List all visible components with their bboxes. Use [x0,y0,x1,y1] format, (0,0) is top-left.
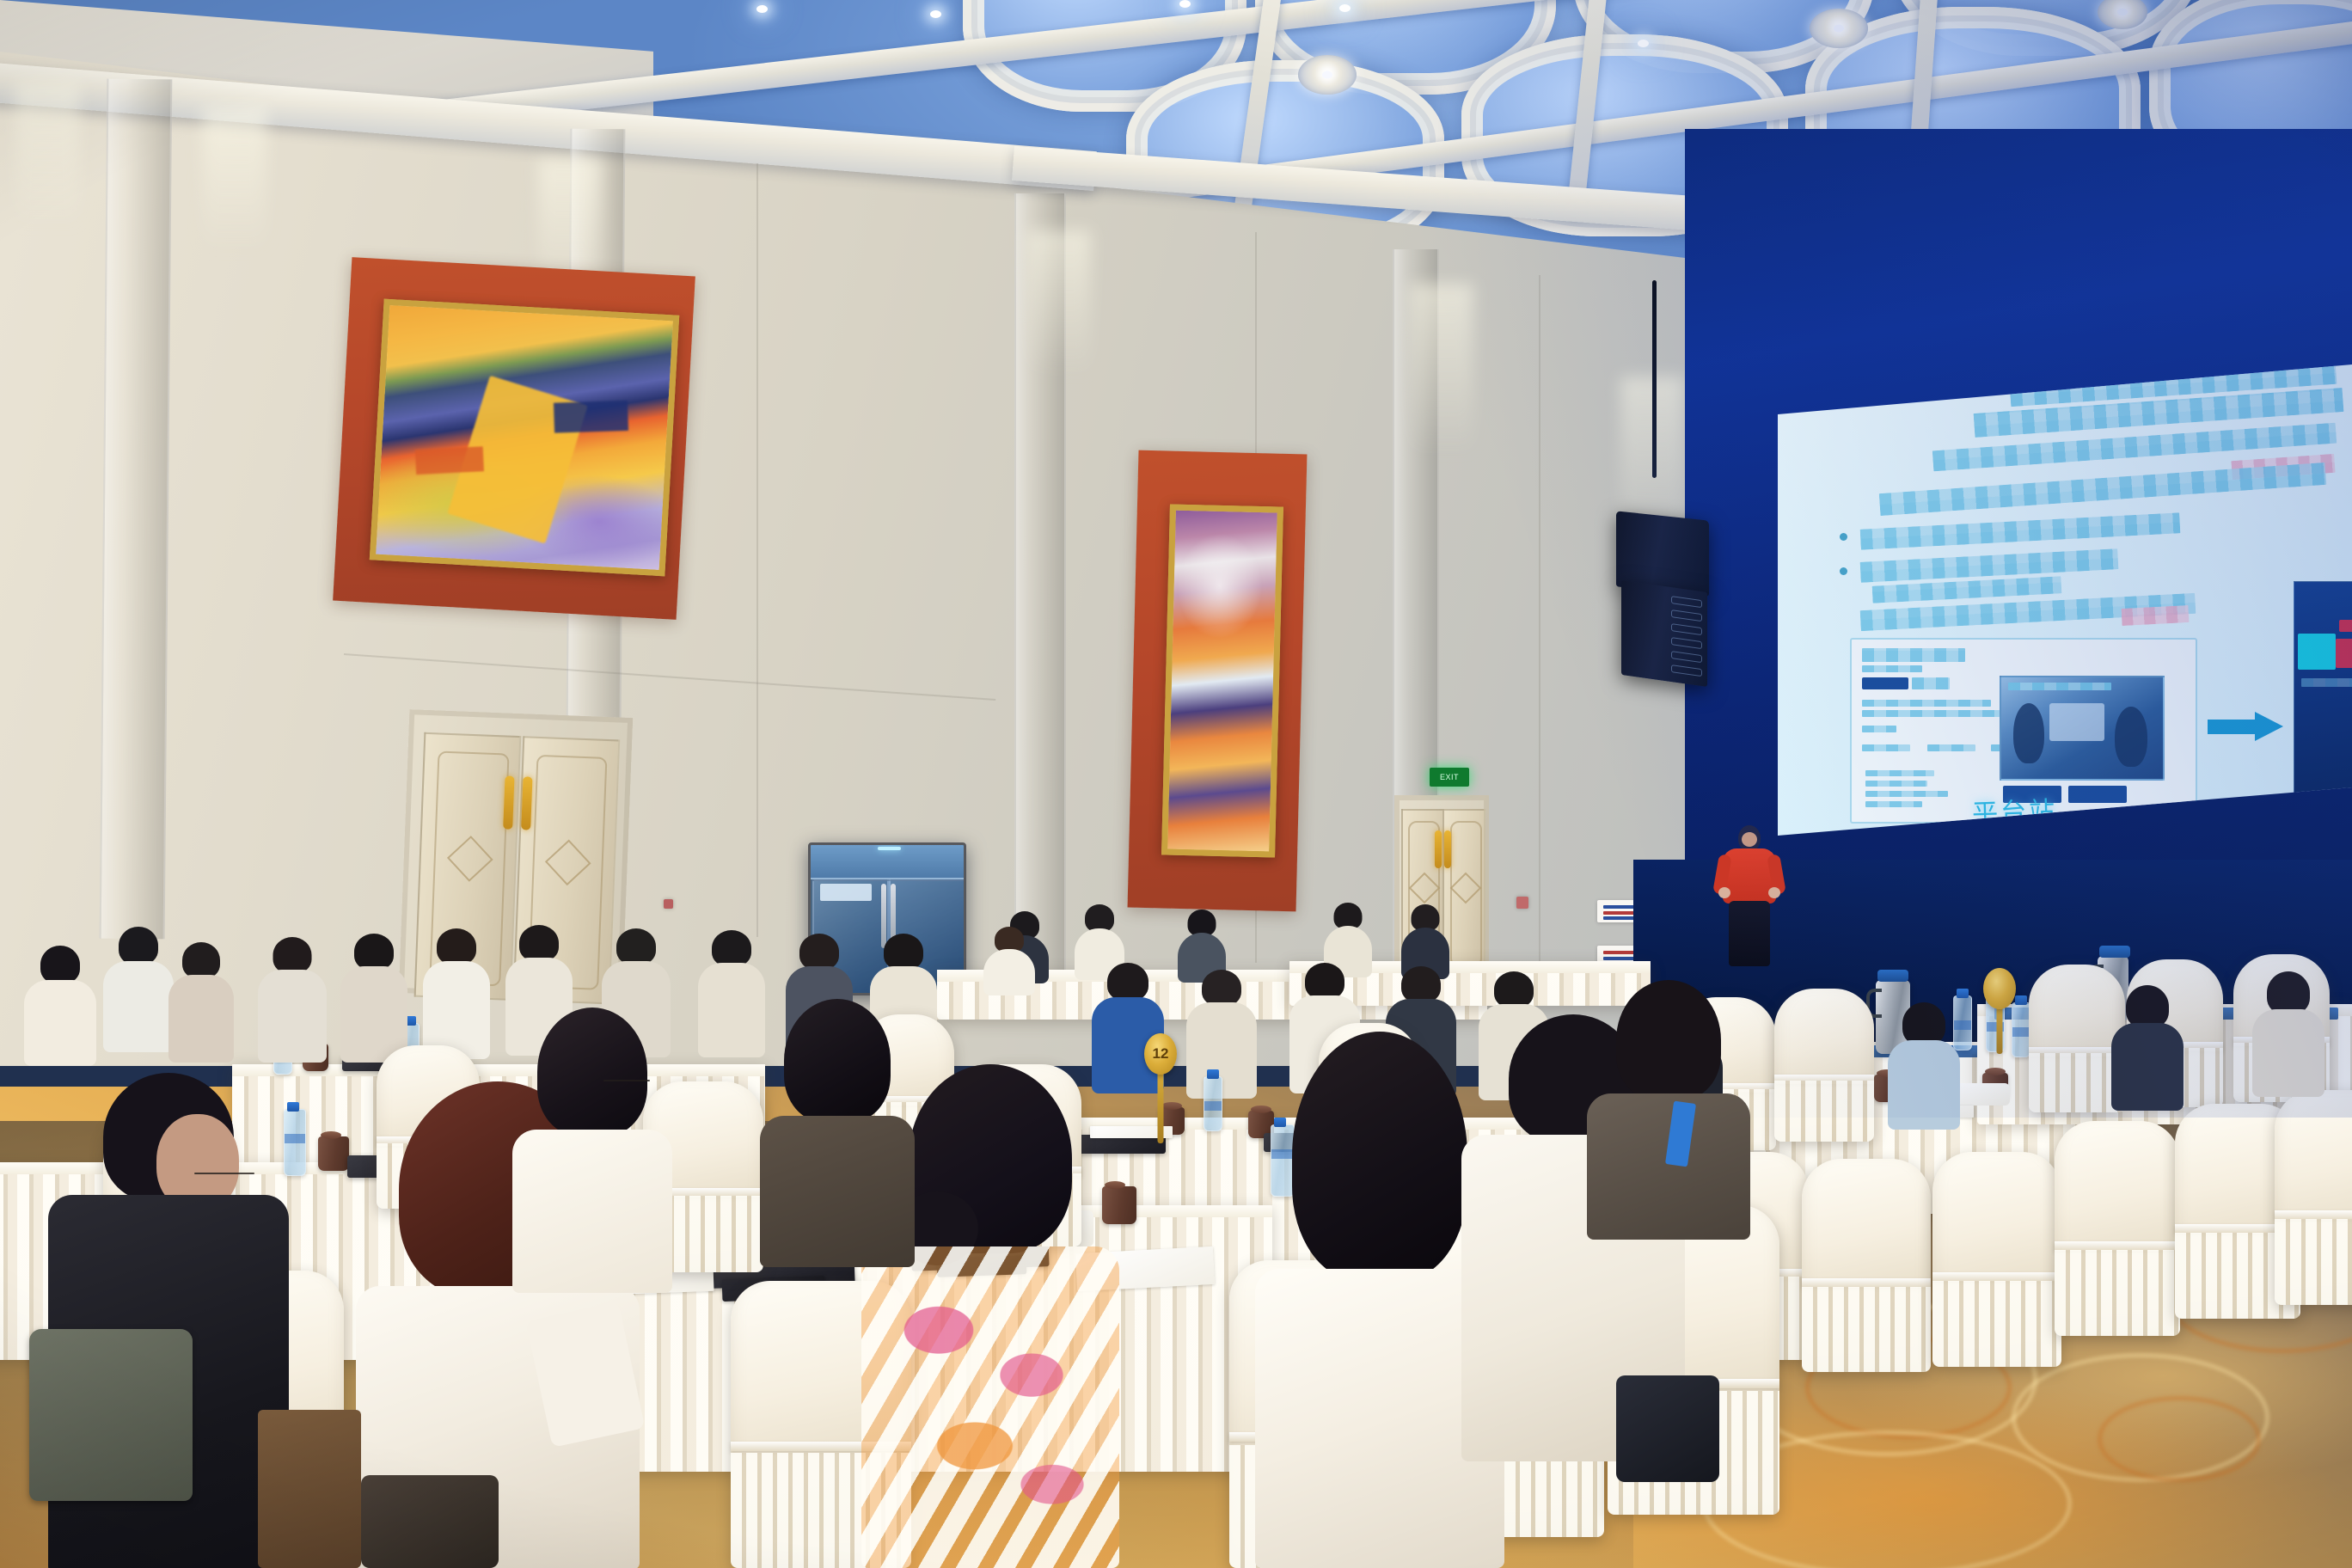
line-array-speaker-lower [1621,580,1707,687]
person-hair [537,1008,647,1136]
audience-member [698,930,765,1057]
refrigerator-display [878,847,901,850]
person-body [512,1130,672,1293]
photo-caption-redacted [2008,683,2111,690]
audience-member [423,928,490,1059]
handbag[interactable] [1616,1375,1719,1482]
door-diamond-inlay [1408,873,1440,904]
person-body [1587,1093,1750,1240]
banquet-chair[interactable] [1802,1159,1931,1372]
audience-member [983,927,1035,992]
person-hair [1401,966,1441,1002]
person-body [24,980,96,1066]
presenter-hand-left [1718,887,1730,898]
projection-screen: 平台站 [1778,364,2352,836]
banquet-chair[interactable] [2055,1121,2180,1336]
person-hair [2126,985,2169,1028]
app-text-redacted [2301,678,2352,687]
ceiling-downlight [756,5,768,13]
conference-hall-photo: EXIT [0,0,2352,1568]
person-body [2252,1009,2324,1097]
speaker-grill-slot [1671,637,1702,649]
door-handle-right[interactable] [1444,830,1451,868]
card-stat-redacted [1862,744,1910,751]
exit-sign: EXIT [1430,768,1469,787]
card-list-redacted [1865,791,1948,797]
person-hair [40,946,80,983]
person-hair [273,937,312,973]
person-hair [1494,971,1534,1008]
person-hair [182,942,220,978]
person-hair [1305,963,1344,999]
table-number-12: 12 [1142,1033,1179,1143]
slide-bullet-icon [1840,533,1847,541]
card-photo [2000,676,2165,781]
person-body [258,970,327,1063]
banquet-chair[interactable] [2275,1090,2352,1305]
person-hair [799,934,839,970]
wall-pilaster [1014,193,1066,1001]
speaker-grill-slot [1671,609,1702,622]
ceiling-rosette [1298,55,1357,95]
door-diamond-inlay [545,840,591,886]
chair-skirt [1774,1081,1874,1142]
card-title-redacted [1862,648,1965,662]
person-hair [519,925,559,961]
person-body [698,963,765,1057]
card-meta-redacted [1862,700,1991,707]
photo-person [2115,707,2147,767]
ceiling-downlight [1638,40,1649,47]
wall-seam [756,163,758,937]
table-number-plate: 12 [1144,1033,1177,1075]
speaker-grill-slot [1671,596,1702,608]
person-hair [712,930,751,966]
table-number-plate [1983,968,2016,1009]
audience-member [760,999,915,1265]
chair-skirt [1802,1287,1931,1372]
person-body [983,949,1035,995]
person-hair [1902,1002,1945,1045]
person-body [103,961,174,1052]
presenter-face [1742,832,1757,847]
person-hair [119,927,158,965]
slide-bullet-text-redacted [1860,512,2181,549]
presenter [1711,825,1788,971]
person-hair [884,934,923,970]
door-panel-inlay [1450,821,1482,967]
app-red-banner [2336,639,2352,668]
photo-monitor [2049,703,2104,741]
refrigerator-header [811,845,964,879]
wall-socket [664,899,673,909]
wall-socket [1516,897,1528,909]
refrigerator-label [820,884,873,902]
teacup[interactable] [318,1136,349,1171]
audience-member [1888,1002,1960,1128]
card-subtitle-redacted [1862,665,1922,672]
abstract-landscape-painting [376,305,673,570]
handbag[interactable] [361,1475,499,1568]
card-action-button-right [2068,786,2127,803]
person-body [340,966,407,1063]
person-body [2111,1023,2184,1111]
slide-app-screenshot [2294,581,2352,798]
audience-member [340,934,407,1063]
slide-bullet-icon [1840,567,1847,575]
table-number-post [1997,1002,2003,1054]
wall-seam [1539,275,1540,963]
ceiling-downlight [1179,0,1191,8]
slide-bullet-text-redacted [1860,548,2119,583]
audience-member [1587,980,1750,1238]
banquet-chair[interactable] [1932,1152,2061,1367]
photo-person [2013,703,2044,763]
ceiling-downlight [1339,4,1351,12]
wall-pilaster [100,79,173,940]
audience-member [258,937,327,1063]
audience-member [2252,971,2324,1095]
person-body [168,975,234,1063]
person-hair [1616,980,1721,1100]
person-body [760,1116,915,1267]
card-meta-redacted [1862,726,1896,732]
person-hair [1202,970,1241,1006]
slide-content: 平台站 [1778,364,2352,836]
person-hair [784,999,891,1123]
audience-member [512,1008,672,1291]
person-hair [437,928,476,965]
card-tag-button [1862,677,1908,689]
card-list-redacted [1865,801,1922,807]
backpack[interactable] [29,1329,193,1501]
water-bottle[interactable] [1204,1076,1222,1131]
speaker-grill-slot [1671,665,1702,677]
card-list-redacted [1865,781,1927,787]
card-list-redacted [1865,770,1934,776]
speaker-grill-slot [1671,623,1702,635]
eyeglasses [603,1080,650,1081]
speaker-cable [1652,280,1657,478]
painting-frame-right [1161,504,1283,857]
ceiling-rosette [1810,9,1868,48]
speaker-grill-slot [1671,651,1702,663]
person-hair [616,928,656,965]
carpet-swirl-motif [2098,1396,2261,1482]
card-stat-redacted [1927,744,1975,751]
wooden-chair-back[interactable] [258,1410,361,1568]
person-body [423,961,490,1059]
eyeglasses [194,1173,254,1174]
chair-skirt [1932,1281,2061,1367]
audience-member [168,942,234,1063]
person-hair [1292,1032,1467,1281]
presenter-hand-right [1768,887,1780,898]
painting-frame-left [370,299,679,577]
person-body [861,1246,1119,1568]
exit-sign-label: EXIT [1440,773,1459,781]
table-number-label: 12 [1153,1045,1169,1063]
door-diamond-inlay [1450,873,1482,904]
audience-member [103,927,174,1052]
app-cyan-banner [2298,634,2336,670]
abstract-vertical-painting [1167,511,1277,852]
door-diamond-inlay [447,836,493,883]
door-handle-left[interactable] [1435,830,1442,868]
person-hair [2267,971,2310,1014]
banquet-chair[interactable] [1774,989,1874,1142]
slide-highlight-redacted [2122,605,2190,626]
chair-skirt [2055,1250,2180,1336]
slide-flow-arrow-icon [2208,712,2283,741]
ceiling-downlight [930,10,941,18]
table-number-post [1158,1068,1164,1143]
table-number-right [1982,968,2017,1054]
audience-member [24,946,96,1066]
card-tag-redacted [1912,677,1950,689]
person-hair [1107,963,1148,1001]
presenter-legs [1729,901,1770,966]
app-red-banner [2339,620,2352,632]
chair-skirt [2275,1219,2352,1305]
card-meta-redacted [1862,710,2013,717]
audience-member [2111,985,2184,1109]
person-body [1888,1040,1960,1130]
person-hair [354,934,394,970]
